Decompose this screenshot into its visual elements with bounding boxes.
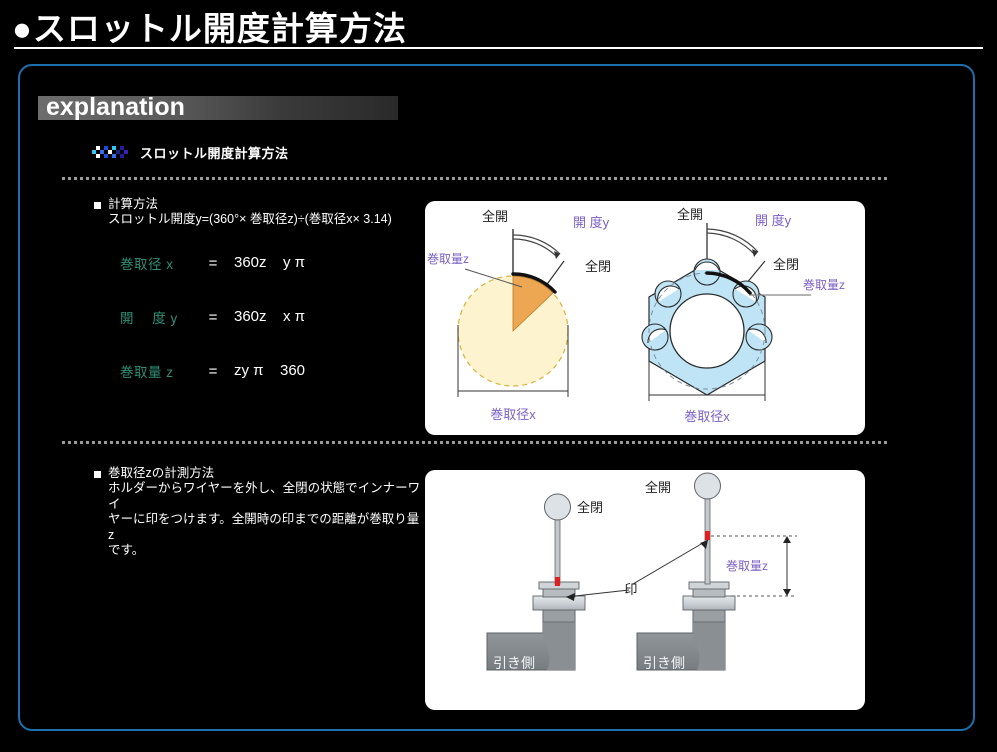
divider-top: [62, 177, 890, 180]
label-wind-amount-right: 巻取量z: [803, 278, 845, 292]
formula-numerator: 360z: [228, 254, 273, 272]
label-angle-right: 開 度y: [755, 213, 792, 228]
measure-section-title: 巻取径zの計測方法: [108, 466, 214, 481]
holder-diagram-svg: 全閉 引き側 全開 引き側: [425, 470, 865, 710]
formula-label: 巻取径 x: [120, 253, 198, 273]
title-divider-rule: [14, 47, 983, 49]
pulley-left: 全開 開 度y 全閉 巻取量z 巻取径x: [427, 209, 611, 422]
checker-icon: [92, 146, 130, 159]
label-full-open-bottom: 全開: [645, 480, 671, 495]
formula-equals: =: [198, 309, 228, 326]
formula-denominator: y π: [277, 253, 311, 271]
formula-denominator: 360: [274, 361, 311, 379]
section-heading: スロットル開度計算方法: [92, 143, 289, 162]
label-diameter-left: 巻取径x: [490, 407, 536, 422]
measure-line-1: ホルダーからワイヤーを外し、全閉の状態でインナーワイ: [108, 481, 424, 512]
calc-section-formula-text: スロットル開度y=(360°× 巻取径z)÷(巻取径x× 3.14): [108, 212, 424, 228]
square-bullet-icon: [94, 471, 101, 478]
formula-numerator: 360z: [228, 308, 273, 326]
measure-line-3: です。: [108, 543, 424, 559]
formula-label: 巻取量 z: [120, 361, 198, 381]
page-title: ●スロットル開度計算方法: [12, 2, 407, 50]
measure-section-text: 巻取径zの計測方法 ホルダーからワイヤーを外し、全閉の状態でインナーワイ ヤーに…: [94, 466, 424, 559]
label-full-open-left: 全開: [482, 209, 508, 224]
pulley-right: 全開 開 度y 全閉 巻取量z 巻取径x: [642, 207, 845, 424]
square-bullet-icon: [94, 202, 101, 209]
label-angle-left: 開 度y: [573, 215, 610, 230]
formula-denominator: x π: [277, 307, 311, 325]
label-full-closed-left: 全閉: [585, 259, 611, 274]
divider-bottom: [62, 441, 890, 444]
diagram-panel-bottom: 全閉 引き側 全開 引き側: [425, 470, 865, 710]
diagram-panel-top: 全開 開 度y 全閉 巻取量z 巻取径x: [425, 201, 865, 435]
label-mark: 印: [624, 582, 637, 597]
calc-section-title: 計算方法: [108, 197, 158, 212]
label-pull-side-left: 引き側: [493, 655, 535, 671]
label-pull-side-right: 引き側: [643, 655, 685, 671]
formula-row: 巻取径 x = 360z y π: [120, 236, 311, 290]
mark-annotation: 印: [566, 540, 708, 601]
label-full-closed-right: 全閉: [773, 257, 799, 272]
measure-line-2: ヤーに印をつけます。全開時の印までの距離が巻取り量z: [108, 512, 424, 543]
calc-section-text: 計算方法 スロットル開度y=(360°× 巻取径z)÷(巻取径x× 3.14): [94, 197, 424, 228]
formula-row: 開 度 y = 360z x π: [120, 290, 311, 344]
formula-fraction: 360z y π: [228, 254, 311, 272]
holder-right: 全開 引き側: [637, 473, 735, 671]
formula-equals: =: [198, 255, 228, 272]
formula-row: 巻取量 z = zy π 360: [120, 344, 311, 398]
explanation-label: explanation: [46, 92, 185, 122]
formula-numerator: zy π: [228, 362, 270, 380]
formula-fraction: 360z x π: [228, 308, 311, 326]
formula-fraction: zy π 360: [228, 362, 311, 380]
section-heading-label: スロットル開度計算方法: [140, 143, 289, 162]
label-diameter-right: 巻取径x: [684, 409, 730, 424]
label-full-closed-bottom: 全閉: [577, 500, 603, 515]
content-frame: explanation スロットル開度計算方法: [18, 64, 975, 731]
formula-list: 巻取径 x = 360z y π 開 度 y = 360z x π 巻取量 z …: [120, 236, 311, 398]
holder-left: 全閉 引き側: [487, 494, 603, 671]
formula-label: 開 度 y: [120, 307, 198, 327]
label-wind-amount-left: 巻取量z: [427, 252, 469, 266]
label-full-open-right: 全開: [677, 207, 703, 222]
label-wind-amount-bottom: 巻取量z: [726, 559, 768, 573]
pulley-diagram-svg: 全開 開 度y 全閉 巻取量z 巻取径x: [425, 201, 865, 435]
formula-equals: =: [198, 363, 228, 380]
